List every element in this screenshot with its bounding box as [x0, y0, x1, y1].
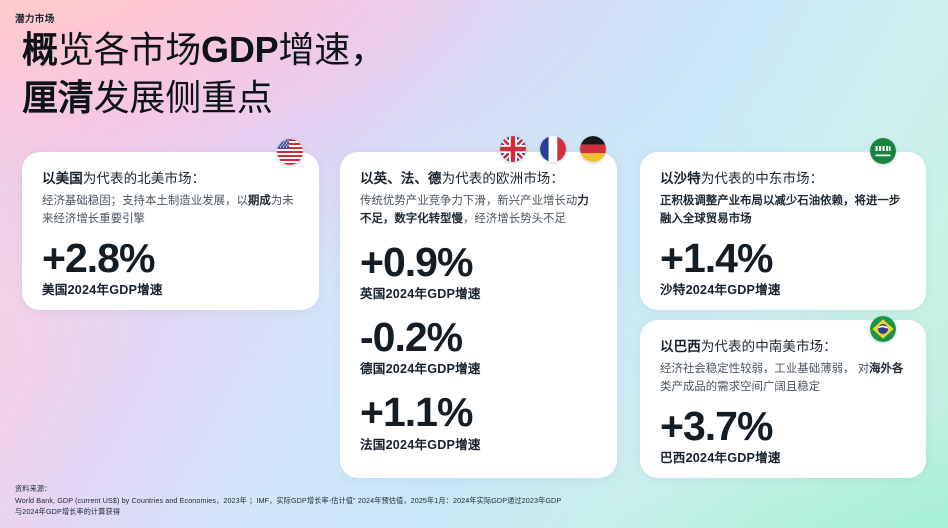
card-description-north-america: 经济基础稳固；支持本土制造业发展，以期成为未来经济增长重要引擎 [42, 193, 299, 228]
stat-label-gb: 英国2024年GDP增速 [360, 283, 597, 302]
stat-label-de: 德国2024年GDP增速 [360, 358, 597, 377]
desc-part2: 类产成品的需求空间广阔且稳定 [660, 381, 820, 393]
stat-label-fr: 法国2024年GDP增速 [360, 434, 597, 453]
stat-block: +1.1% 法国2024年GDP增速 [360, 391, 597, 452]
stat-value-sa: +1.4% [660, 237, 906, 280]
desc-part1: 正积极调整产业布局以减少石油依赖， [660, 195, 855, 207]
title-rest: 为代表的中南美市场： [701, 339, 837, 354]
card-description-south-america: 经济社会稳定性较弱，工业基础薄弱， 对海外各类产成品的需求空间广阔且稳定 [660, 361, 906, 396]
title-country: 美国 [56, 171, 83, 186]
stat-value-de: -0.2% [360, 316, 597, 359]
market-card-south-america[interactable]: 以巴西为代表的中南美市场： 经济社会稳定性较弱，工业基础薄弱， 对海外各类产成品… [640, 320, 926, 478]
stat-block: +0.9% 英国2024年GDP增速 [360, 241, 597, 302]
market-card-north-america[interactable]: 以美国为代表的北美市场： 经济基础稳固；支持本土制造业发展，以期成为未来经济增长… [22, 152, 319, 310]
footnote-line-1: 资料来源： [15, 483, 561, 495]
desc-part1: 经济基础稳固；支持本土制造业发展，以 [42, 195, 248, 207]
stat-block: +3.7% 巴西2024年GDP增速 [660, 405, 906, 466]
headline-segment-6: 发展侧重点 [94, 77, 273, 118]
flag-germany-icon [580, 136, 606, 162]
headline-segment-2: 览各市场 [58, 29, 201, 70]
title-country: 英、法、德 [374, 171, 442, 186]
stat-label-us: 美国2024年GDP增速 [42, 279, 299, 298]
card-title-europe: 以英、法、德为代表的欧洲市场： [360, 170, 597, 188]
flag-united-kingdom-icon [500, 136, 526, 162]
stat-value-br: +3.7% [660, 405, 906, 448]
title-country: 沙特 [674, 171, 701, 186]
source-footnote: 资料来源： World Bank, GDP (current US$) by C… [15, 483, 561, 518]
title-rest: 为代表的中东市场： [701, 171, 823, 186]
card-description-europe: 传统优势产业竞争力下滑，新兴产业增长动力不足，数字化转型慢，经济增长势头不足 [360, 193, 597, 228]
flag-france-icon [540, 136, 566, 162]
page-title: 概览各市场GDP增速，厘清发展侧重点 [22, 26, 386, 122]
market-card-middle-east[interactable]: 以沙特为代表的中东市场： 正积极调整产业布局以减少石油依赖，将进一步融入全球贸易… [640, 152, 926, 310]
title-rest: 为代表的欧洲市场： [442, 171, 564, 186]
slide-canvas: 潜力市场 概览各市场GDP增速，厘清发展侧重点 以美国为代表的北美市场： 经济基… [0, 0, 948, 528]
title-lead: 以 [660, 339, 674, 354]
footnote-line-3: 与2024年GDP增长率的计算获得 [15, 506, 561, 518]
stat-value-gb: +0.9% [360, 241, 597, 284]
stat-value-us: +2.8% [42, 237, 299, 280]
footnote-line-2: World Bank, GDP (current US$) by Countri… [15, 495, 561, 507]
flag-brazil-icon [870, 316, 896, 342]
desc-emphasis: 期成 [248, 195, 271, 207]
stat-block: +2.8% 美国2024年GDP增速 [42, 237, 299, 298]
eyebrow-label: 潜力市场 [15, 11, 55, 25]
stat-label-sa: 沙特2024年GDP增速 [660, 279, 906, 298]
headline-segment-1: 概 [22, 29, 58, 70]
desc-emphasis: 海外各 [869, 363, 903, 375]
card-title-south-america: 以巴西为代表的中南美市场： [660, 338, 906, 356]
title-lead: 以 [42, 171, 56, 186]
title-country: 巴西 [674, 339, 701, 354]
card-title-north-america: 以美国为代表的北美市场： [42, 170, 299, 188]
market-card-europe[interactable]: 以英、法、德为代表的欧洲市场： 传统优势产业竞争力下滑，新兴产业增长动力不足，数… [340, 152, 617, 478]
headline-segment-3: GDP [201, 29, 278, 70]
flag-united-states-icon [277, 139, 303, 165]
card-description-middle-east: 正积极调整产业布局以减少石油依赖，将进一步融入全球贸易市场 [660, 193, 906, 228]
stat-block: -0.2% 德国2024年GDP增速 [360, 316, 597, 377]
stat-label-br: 巴西2024年GDP增速 [660, 447, 906, 466]
desc-part2: ，经济增长势头不足 [463, 213, 566, 225]
title-rest: 为代表的北美市场： [83, 171, 205, 186]
stat-value-fr: +1.1% [360, 391, 597, 434]
stat-block: +1.4% 沙特2024年GDP增速 [660, 237, 906, 298]
flag-saudi-arabia-icon [870, 138, 896, 164]
headline-segment-4: 增速， [278, 29, 385, 70]
headline-segment-5: 厘清 [22, 77, 94, 118]
desc-part1: 传统优势产业竞争力下滑，新兴产业增长动 [360, 195, 577, 207]
title-lead: 以 [360, 171, 374, 186]
card-title-middle-east: 以沙特为代表的中东市场： [660, 170, 906, 188]
title-lead: 以 [660, 171, 674, 186]
desc-part1: 经济社会稳定性较弱，工业基础薄弱， 对 [660, 363, 869, 375]
